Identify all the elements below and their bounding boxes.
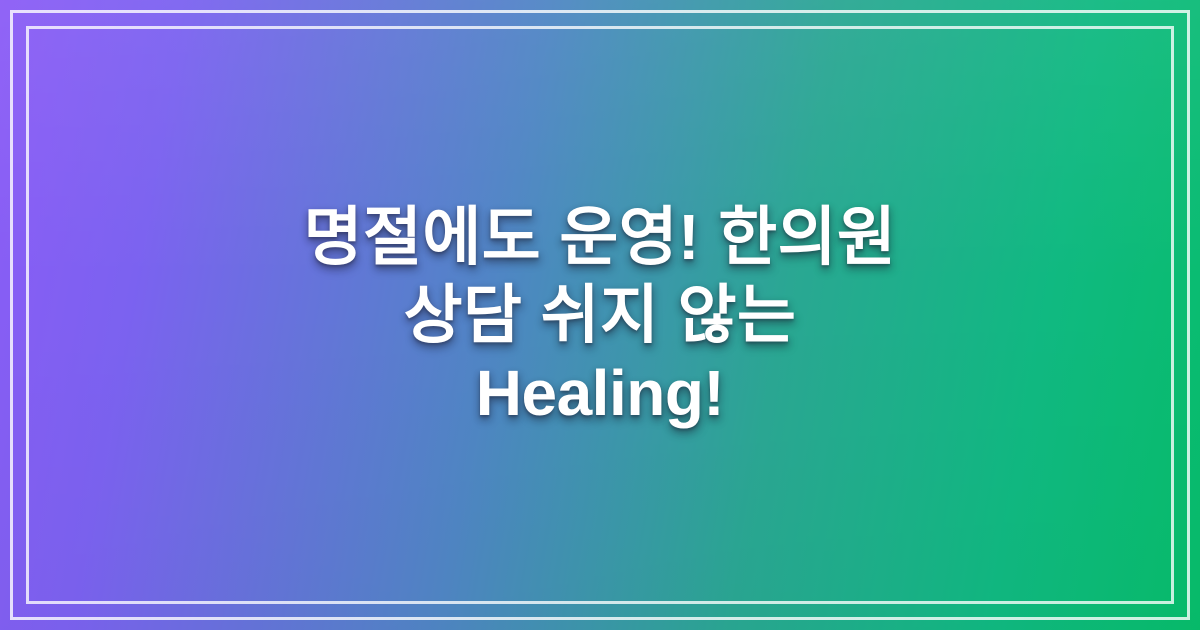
headline-line-1: 명절에도 운영! 한의원 bbox=[304, 198, 897, 276]
headline-block: 명절에도 운영! 한의원 상담 쉬지 않는 Healing! bbox=[0, 0, 1200, 630]
promo-banner: 명절에도 운영! 한의원 상담 쉬지 않는 Healing! bbox=[0, 0, 1200, 630]
headline-line-3: Healing! bbox=[476, 354, 724, 432]
headline-line-2: 상담 쉬지 않는 bbox=[404, 276, 797, 354]
